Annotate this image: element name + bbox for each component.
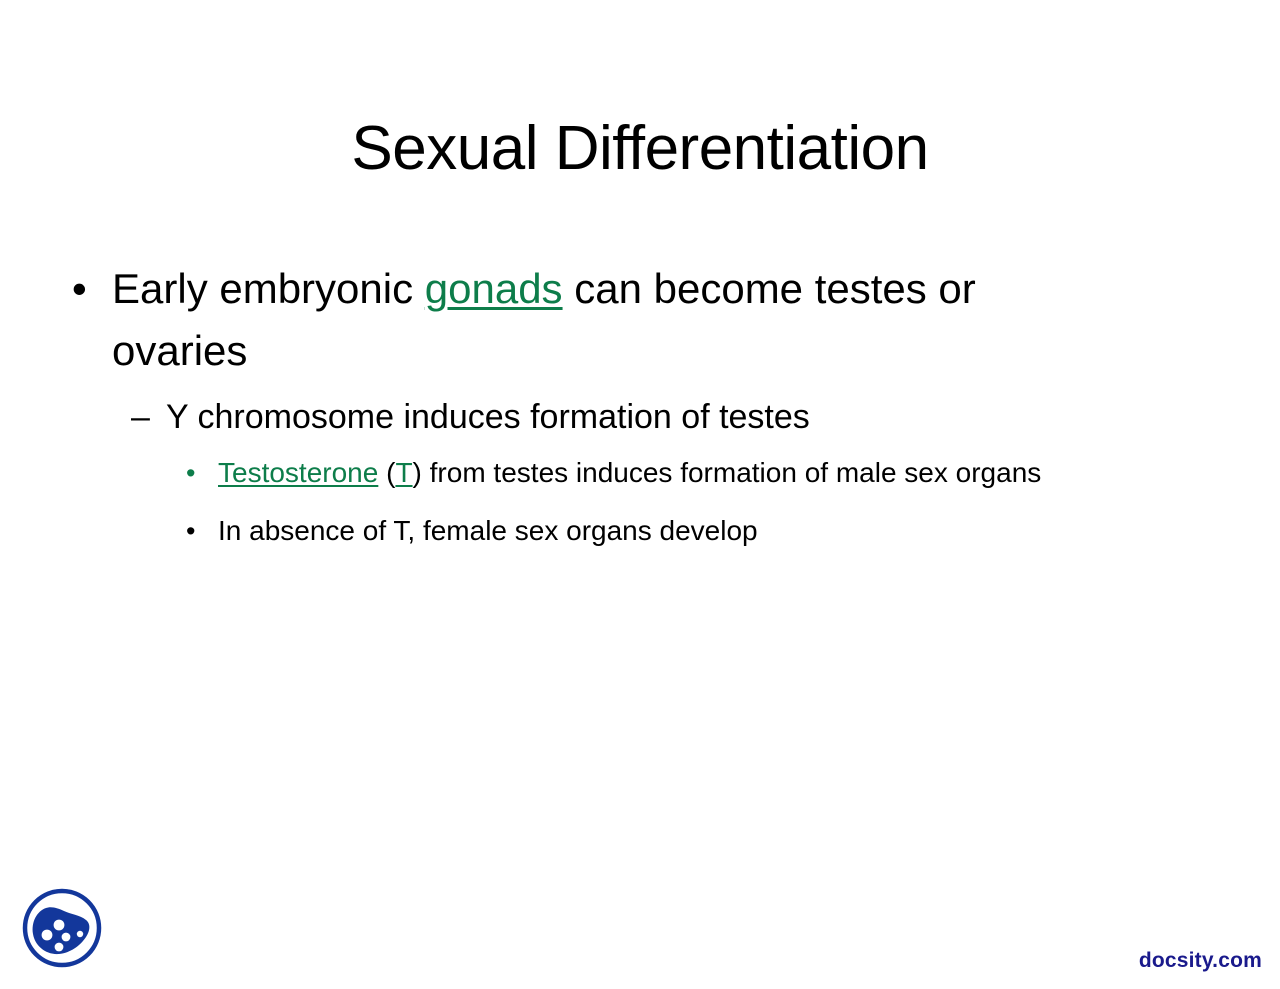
bullet-list: • Early embryonic gonads can become test… (60, 258, 1210, 554)
docsity-logo-icon (20, 886, 104, 970)
list-item: • In absence of T, female sex organs dev… (60, 508, 1210, 554)
paren-open: ( (378, 457, 395, 488)
paren-close: ) (413, 457, 422, 488)
testosterone-abbr-link[interactable]: T (395, 457, 412, 488)
bullet-marker-icon: • (60, 258, 112, 320)
list-item: • Testosterone (T) from testes induces f… (60, 450, 1210, 496)
list-item-text: Y chromosome induces formation of testes (166, 392, 1210, 442)
text-run-before: Early embryonic (112, 265, 425, 312)
bullet-marker-icon: • (60, 450, 218, 496)
testosterone-link[interactable]: Testosterone (218, 457, 378, 488)
slide: Sexual Differentiation • Early embryonic… (0, 0, 1280, 989)
list-item-text: In absence of T, female sex organs devel… (218, 508, 1143, 554)
list-item: – Y chromosome induces formation of test… (60, 392, 1210, 442)
gonads-link[interactable]: gonads (425, 265, 563, 312)
dash-marker-icon: – (60, 392, 166, 442)
list-item-text: Early embryonic gonads can become testes… (112, 258, 1102, 382)
page-title: Sexual Differentiation (0, 116, 1280, 181)
text-run-after: from testes induces formation of male se… (422, 457, 1041, 488)
bullet-marker-icon: • (60, 508, 218, 554)
list-item: • Early embryonic gonads can become test… (60, 258, 1210, 382)
list-item-text: Testosterone (T) from testes induces for… (218, 450, 1143, 496)
docsity-url-label: docsity.com (1139, 949, 1262, 973)
